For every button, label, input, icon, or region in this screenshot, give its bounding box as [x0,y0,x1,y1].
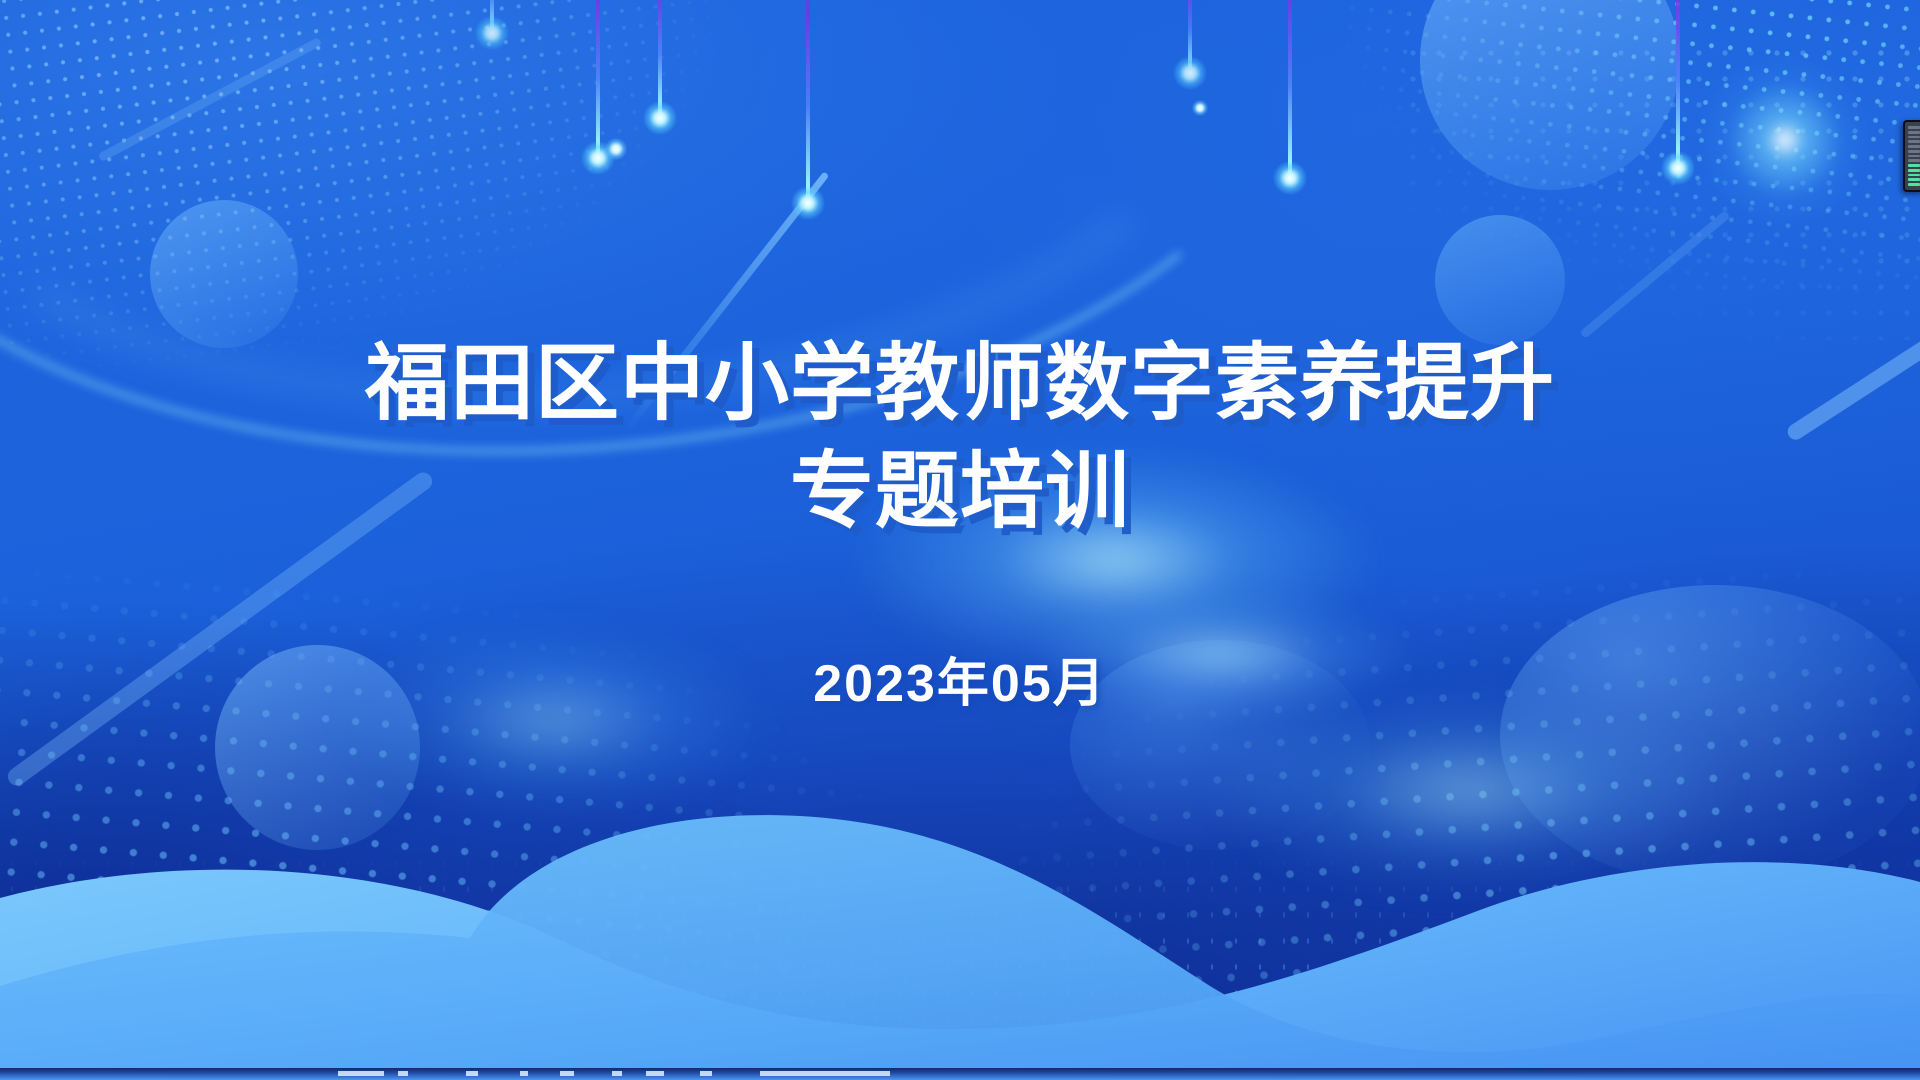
level-meter-segment [1908,140,1920,143]
spark-dot-1 [605,138,627,160]
level-meter-segment [1908,145,1920,148]
edge-strip-tick [398,1071,408,1076]
light-streak-head [1173,56,1207,90]
edge-strip-tick [560,1071,574,1076]
bottom-waves [0,790,1920,1080]
decor-circle-3 [1435,215,1565,345]
edge-strip-tick [700,1071,712,1076]
level-meter-segment [1908,174,1920,177]
light-streak-trail [806,0,810,206]
level-meter-segment [1908,136,1920,139]
level-meter-segment [1908,159,1920,162]
level-meter-segment [1908,126,1920,129]
slide-edge-strip [0,1068,1920,1080]
edge-strip-tick [760,1071,890,1076]
level-meter-segment [1908,178,1920,181]
level-meter-segment [1908,169,1920,172]
level-meter-segment [1908,164,1920,167]
level-meter[interactable] [1903,120,1920,192]
light-streak-trail [596,0,600,161]
decor-circle-1 [150,200,298,348]
edge-strip-tick [466,1071,478,1076]
presentation-slide: 福田区中小学教师数字素养提升 专题培训 2023年05月 [0,0,1920,1080]
light-streak-trail [1676,0,1680,171]
light-streak-trail [1288,0,1292,181]
light-streak-head [1661,151,1695,185]
edge-strip-tick [520,1071,528,1076]
light-streak-head [791,186,825,220]
level-meter-segment [1908,155,1920,158]
light-streak-head [1273,161,1307,195]
light-streak-head [475,16,509,50]
level-meter-segment [1908,150,1920,153]
level-meter-segment [1908,183,1920,186]
edge-strip-tick [646,1071,664,1076]
edge-strip-tick [612,1071,622,1076]
light-streak-head [643,101,677,135]
edge-strip-tick [338,1071,384,1076]
level-meter-segment [1908,131,1920,134]
spark-dot-2 [1192,100,1208,116]
